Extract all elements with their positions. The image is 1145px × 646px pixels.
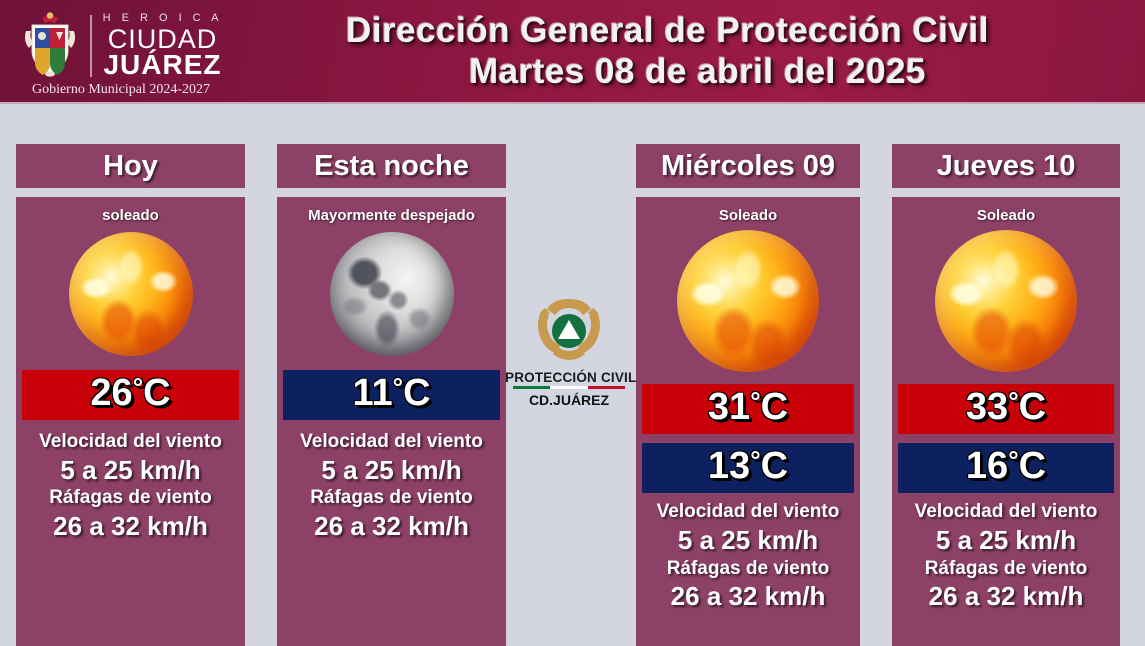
wind-speed-value: 5 a 25 km/h: [60, 454, 200, 487]
wind-speed-label: Velocidad del viento: [300, 430, 483, 454]
temperature-unit: C: [1019, 386, 1046, 428]
wind-gusts-label: Ráfagas de viento: [49, 486, 212, 510]
degree-symbol: °: [1008, 386, 1018, 416]
proteccion-civil-city: CD.JUÁREZ: [505, 392, 633, 408]
temperature-unit: C: [403, 372, 430, 414]
temperature-low-band: 13°C: [642, 443, 854, 493]
wind-speed-value: 5 a 25 km/h: [678, 524, 818, 557]
sun-icon: [69, 232, 193, 356]
sun-icon: [677, 230, 819, 372]
forecast-card-title: Hoy: [16, 144, 245, 188]
wind-gusts-value: 26 a 32 km/h: [929, 580, 1084, 613]
temperature-high-band: 31°C: [642, 384, 854, 434]
weather-forecast-infographic: H E R O I C A CIUDAD JUÁREZ Gobierno Mun…: [0, 0, 1145, 646]
page-subtitle-date: Martes 08 de abril del 2025: [230, 51, 1105, 92]
wind-gusts-value: 26 a 32 km/h: [671, 580, 826, 613]
forecast-card-title: Esta noche: [277, 144, 506, 188]
condition-label: Soleado: [977, 207, 1035, 224]
wind-speed-value: 5 a 25 km/h: [321, 454, 461, 487]
degree-symbol: °: [393, 372, 403, 402]
condition-label: Mayormente despejado: [308, 207, 475, 224]
page-header: H E R O I C A CIUDAD JUÁREZ Gobierno Mun…: [0, 0, 1145, 104]
temperature-unit: C: [143, 372, 170, 414]
wind-gusts-value: 26 a 32 km/h: [314, 510, 469, 543]
brand-heroica-label: H E R O I C A: [100, 13, 225, 24]
wind-speed-label: Velocidad del viento: [39, 430, 222, 454]
proteccion-civil-logo: PROTECCIÓN CIVIL CD.JUÁREZ: [505, 296, 633, 408]
proteccion-civil-name: PROTECCIÓN CIVIL: [505, 370, 633, 385]
forecast-card-esta-noche[interactable]: Esta noche Mayormente despejado 11°C Vel…: [277, 144, 506, 646]
forecast-card-body: Soleado 31°C 13°C Velocidad del viento 5…: [636, 197, 860, 646]
forecast-card-body: Soleado 33°C 16°C Velocidad del viento 5…: [892, 197, 1120, 646]
temperature-unit: C: [761, 386, 788, 428]
temperature-high-band: 26°C: [22, 370, 239, 420]
temperature-low-value: 16: [966, 445, 1008, 487]
wind-speed-label: Velocidad del viento: [915, 500, 1098, 524]
degree-symbol: °: [133, 372, 143, 402]
forecast-card-title: Miércoles 09: [636, 144, 860, 188]
forecast-card-jueves-10[interactable]: Jueves 10 Soleado 33°C 16°C Velocidad de…: [892, 144, 1120, 646]
condition-label: soleado: [102, 207, 159, 224]
page-title: Dirección General de Protección Civil: [230, 10, 1105, 51]
temperature-high-band: 33°C: [898, 384, 1114, 434]
temperature-unit: C: [1019, 445, 1046, 487]
brand-juarez-label: JUÁREZ: [100, 51, 225, 79]
mexican-flag-underline-icon: [513, 386, 625, 389]
forecast-card-body: Mayormente despejado 11°C Velocidad del …: [277, 197, 506, 646]
forecast-card-body: soleado 26°C Velocidad del viento 5 a 25…: [16, 197, 245, 646]
degree-symbol: °: [750, 445, 760, 475]
temperature-low-band: 16°C: [898, 443, 1114, 493]
temperature-low-value: 13: [708, 445, 750, 487]
temperature-unit: C: [761, 445, 788, 487]
wind-speed-value: 5 a 25 km/h: [936, 524, 1076, 557]
juarez-coat-of-arms-icon: [22, 11, 78, 77]
temperature-high-value: 31: [708, 386, 750, 428]
temperature-low-band: 11°C: [283, 370, 500, 420]
municipal-brand: H E R O I C A CIUDAD JUÁREZ Gobierno Mun…: [0, 0, 230, 103]
temperature-high-value: 33: [966, 386, 1008, 428]
temperature-low-value: 11: [352, 372, 392, 414]
wind-gusts-value: 26 a 32 km/h: [53, 510, 208, 543]
condition-label: Soleado: [719, 207, 777, 224]
sun-icon: [935, 230, 1077, 372]
brand-wordmark: H E R O I C A CIUDAD JUÁREZ: [100, 13, 225, 79]
proteccion-civil-emblem-icon: [533, 296, 605, 368]
header-title-block: Dirección General de Protección Civil Ma…: [230, 10, 1145, 93]
wind-gusts-label: Ráfagas de viento: [310, 486, 473, 510]
degree-symbol: °: [750, 386, 760, 416]
brand-government-label: Gobierno Municipal 2024-2027: [16, 82, 226, 98]
degree-symbol: °: [1008, 445, 1018, 475]
moon-icon: [330, 232, 454, 356]
forecast-card-hoy[interactable]: Hoy soleado 26°C Velocidad del viento 5 …: [16, 144, 245, 646]
forecast-card-miercoles-09[interactable]: Miércoles 09 Soleado 31°C 13°C Velocidad…: [636, 144, 860, 646]
wind-speed-label: Velocidad del viento: [657, 500, 840, 524]
brand-divider: [90, 15, 92, 77]
forecast-card-title: Jueves 10: [892, 144, 1120, 188]
temperature-high-value: 26: [90, 372, 132, 414]
wind-gusts-label: Ráfagas de viento: [667, 557, 830, 581]
wind-gusts-label: Ráfagas de viento: [925, 557, 1088, 581]
